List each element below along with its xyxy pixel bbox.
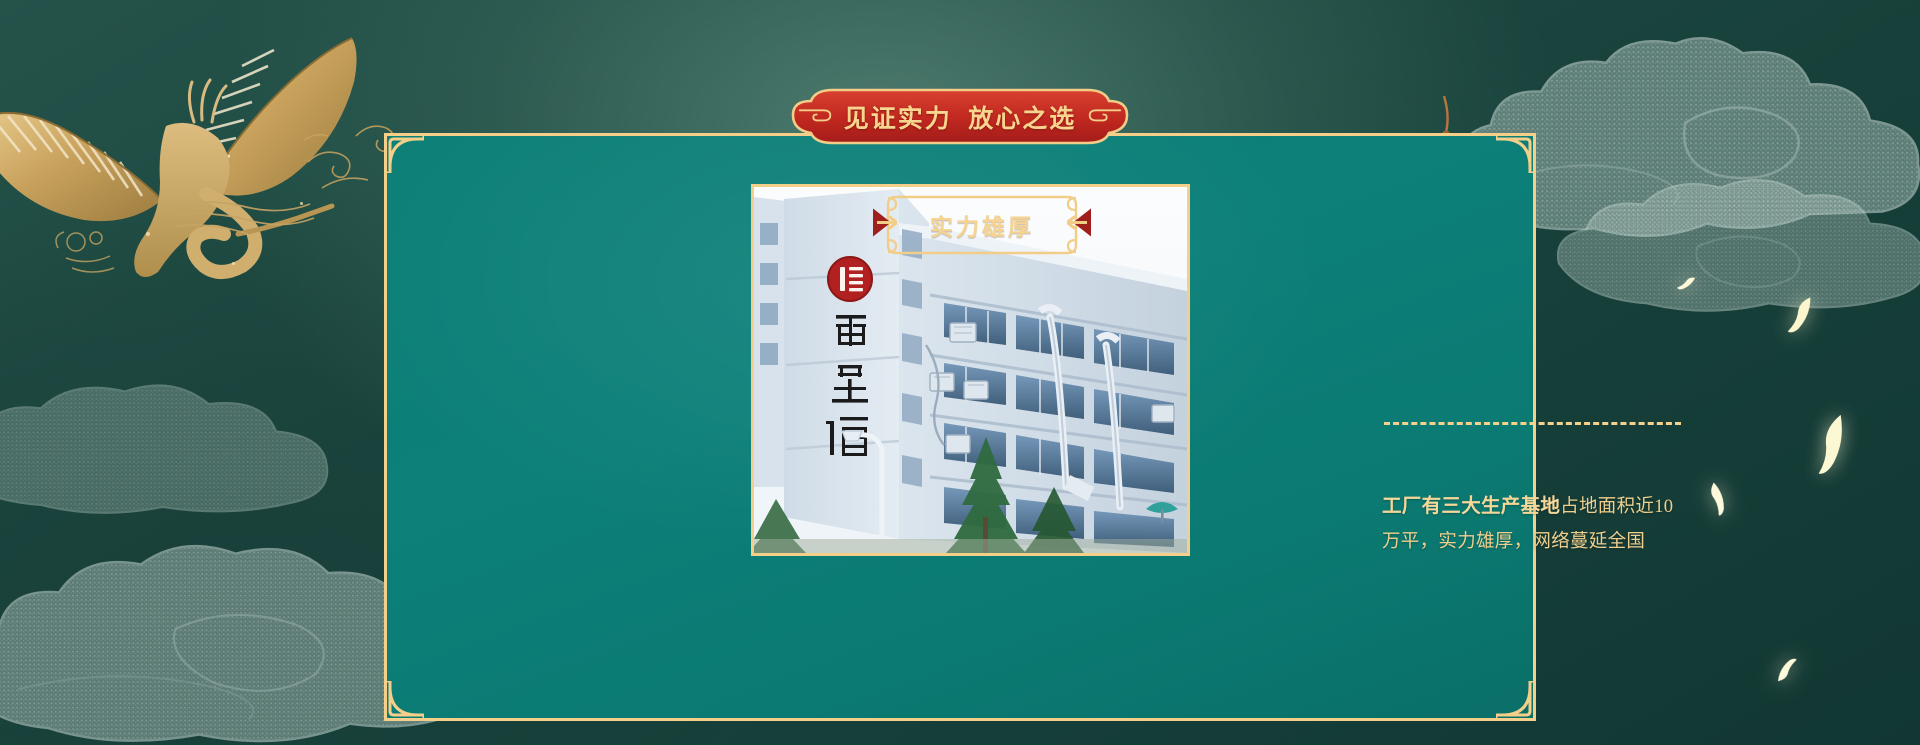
sparkle-dot [232, 262, 235, 265]
auspicious-cloud-mid-left-icon [0, 360, 360, 539]
info-column: 实力雄厚 工厂有三大生产基地占地面积近10万平，实力雄厚，网络蔓延全国 [884, 194, 1484, 256]
petal-3-icon [1695, 476, 1740, 527]
auspicious-cloud-mid-right-icon [1540, 150, 1920, 339]
content-frame: 实力雄厚 工厂有三大生产基地占地面积近10万平，实力雄厚，网络蔓延全国 [384, 133, 1536, 721]
frame-corner-bottom-right-icon [1496, 681, 1536, 721]
petal-5-icon [1772, 646, 1806, 689]
banner-stage: 实力雄厚 工厂有三大生产基地占地面积近10万平，实力雄厚，网络蔓延全国 [0, 0, 1920, 745]
frame-corner-top-right-icon [1496, 133, 1536, 173]
headline-ribbon: 见证实力 放心之选 [771, 88, 1149, 145]
petal-1-icon [1804, 412, 1848, 483]
strength-badge: 实力雄厚 [884, 194, 1080, 256]
sparkle-dot [146, 232, 150, 236]
frame-corner-top-left-icon [384, 133, 424, 173]
badge-label: 实力雄厚 [884, 194, 1080, 256]
section-divider [1384, 422, 1681, 425]
frame-corner-bottom-left-icon [384, 681, 424, 721]
description-highlight: 工厂有三大生产基地 [1382, 496, 1560, 517]
ribbon-title: 见证实力 放心之选 [771, 88, 1149, 145]
description-text: 工厂有三大生产基地占地面积近10万平，实力雄厚，网络蔓延全国 [1382, 489, 1692, 559]
